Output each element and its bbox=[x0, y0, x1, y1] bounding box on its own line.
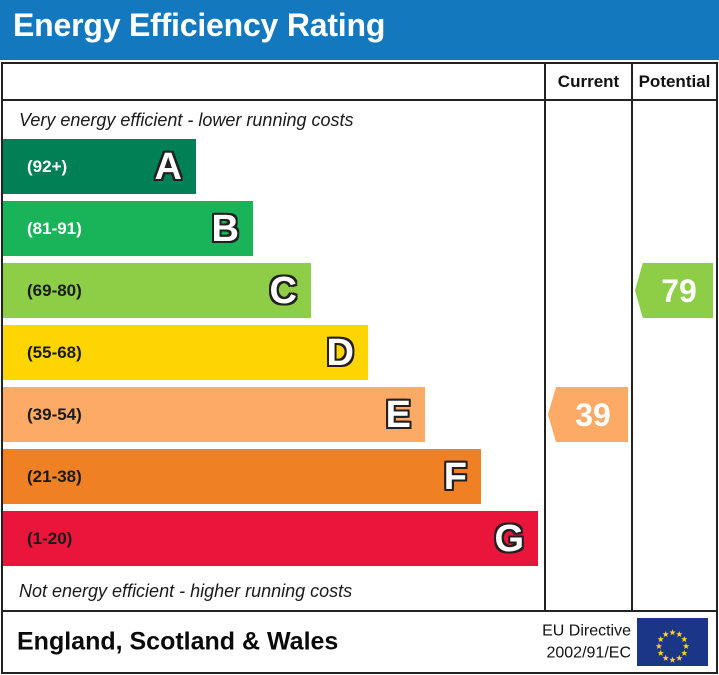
column-header-potential: Potential bbox=[631, 64, 716, 99]
band-letter-a: A bbox=[155, 148, 182, 186]
directive-line-2: 2002/91/EC bbox=[542, 642, 631, 664]
caption-inefficient: Not energy efficient - higher running co… bbox=[3, 572, 542, 610]
band-letter-b: B bbox=[212, 210, 239, 248]
band-range-f: (21-38) bbox=[27, 467, 82, 487]
rating-table: Current Potential Very energy efficient … bbox=[1, 62, 718, 612]
rating-value-current: 39 bbox=[565, 399, 611, 431]
band-letter-d: D bbox=[327, 334, 354, 372]
band-c: (69-80)C bbox=[3, 263, 311, 318]
band-e: (39-54)E bbox=[3, 387, 425, 442]
band-g: (1-20)G bbox=[3, 511, 538, 566]
footer-directive-label: EU Directive 2002/91/EC bbox=[542, 620, 631, 663]
band-b: (81-91)B bbox=[3, 201, 253, 256]
band-letter-e: E bbox=[386, 396, 411, 434]
band-range-d: (55-68) bbox=[27, 343, 82, 363]
band-range-c: (69-80) bbox=[27, 281, 82, 301]
rating-arrow-potential: 79 bbox=[635, 263, 713, 318]
band-range-a: (92+) bbox=[27, 157, 67, 177]
column-divider-potential bbox=[631, 101, 633, 610]
band-list: (92+)A(81-91)B(69-80)C(55-68)D(39-54)E(2… bbox=[3, 139, 542, 572]
caption-efficient: Very energy efficient - lower running co… bbox=[3, 101, 542, 139]
band-f: (21-38)F bbox=[3, 449, 481, 504]
band-range-e: (39-54) bbox=[27, 405, 82, 425]
band-letter-g: G bbox=[494, 520, 524, 558]
footer-region-label: England, Scotland & Wales bbox=[17, 628, 338, 657]
eu-flag-icon bbox=[637, 618, 708, 666]
band-letter-f: F bbox=[444, 458, 467, 496]
energy-efficiency-rating-chart: Energy Efficiency Rating Current Potenti… bbox=[0, 0, 719, 675]
page-title: Energy Efficiency Rating bbox=[13, 7, 385, 44]
column-divider-current bbox=[544, 101, 546, 610]
rating-arrow-current: 39 bbox=[548, 387, 628, 442]
column-header-current: Current bbox=[544, 64, 631, 99]
band-range-b: (81-91) bbox=[27, 219, 82, 239]
chart-title-bar: Energy Efficiency Rating bbox=[0, 0, 719, 60]
band-d: (55-68)D bbox=[3, 325, 368, 380]
band-a: (92+)A bbox=[3, 139, 196, 194]
rating-value-potential: 79 bbox=[651, 275, 697, 307]
directive-line-1: EU Directive bbox=[542, 620, 631, 642]
chart-footer: England, Scotland & Wales EU Directive 2… bbox=[1, 612, 718, 674]
table-header-row: Current Potential bbox=[3, 64, 716, 101]
band-range-g: (1-20) bbox=[27, 529, 72, 549]
band-letter-c: C bbox=[270, 272, 297, 310]
